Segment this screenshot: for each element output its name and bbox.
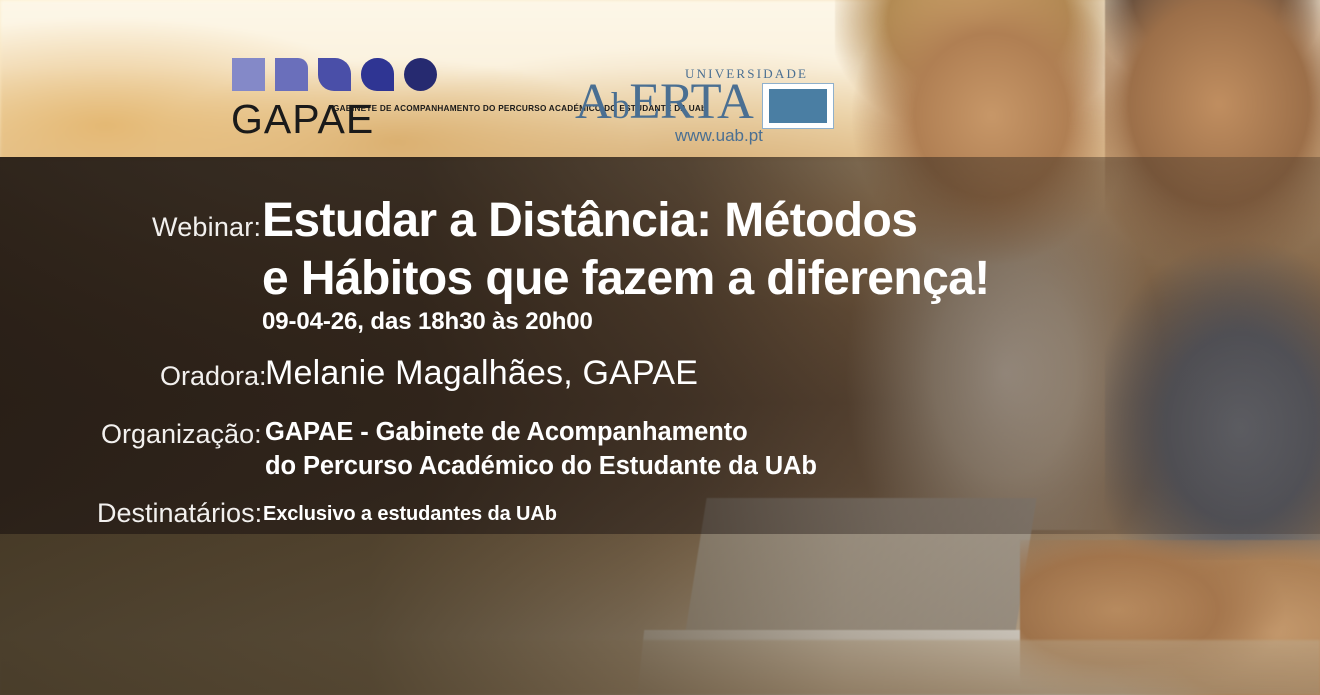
audience-label: Destinatários: bbox=[97, 498, 262, 529]
footer-logo-strip: PRR Plano de Recuperação e Resiliência R… bbox=[0, 534, 1320, 695]
page-title: Estudar a Distância: Métodos e Hábitos q… bbox=[262, 192, 990, 308]
speaker-name: Melanie Magalhães, GAPAE bbox=[265, 354, 698, 393]
datetime-text: 09-04-26, das 18h30 às 20h00 bbox=[262, 308, 593, 336]
webinar-promo-banner: GAPAE GABINETE DE ACOMPANHAMENTO DO PERC… bbox=[0, 0, 1320, 695]
speaker-label: Oradora: bbox=[160, 361, 267, 392]
organization-label: Organização: bbox=[101, 419, 262, 450]
organization-value: GAPAE - Gabinete de Acompanhamento do Pe… bbox=[265, 416, 817, 484]
audience-value: Exclusivo a estudantes da UAb bbox=[263, 503, 557, 526]
webinar-label: Webinar: bbox=[152, 212, 261, 243]
